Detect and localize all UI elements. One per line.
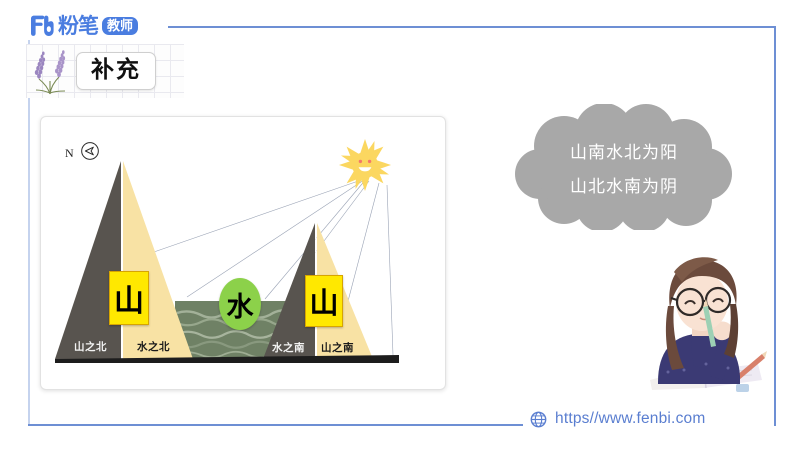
cloud-line-1: 山南水北为阳: [570, 138, 678, 163]
brand-logo: 粉笔 教师: [28, 14, 144, 38]
compass-arrow-icon: [80, 141, 100, 166]
label-shan-zhi-bei: 山之北: [74, 339, 107, 354]
eraser: [736, 384, 749, 392]
thought-cloud: 山南水北为阳 山北水南为阴: [508, 104, 740, 230]
globe-icon: [530, 411, 547, 428]
label-shui-zhi-bei: 水之北: [137, 339, 170, 354]
badge-shan-right: 山: [305, 275, 343, 327]
compass: N: [65, 141, 100, 166]
sun-smiling-icon: [339, 139, 391, 191]
frame-line-top: [168, 26, 776, 28]
badge-shui-label: 水: [227, 285, 254, 324]
brand-name: 粉笔: [58, 16, 98, 37]
section-title-block: 补充: [26, 44, 184, 98]
fb-logo-icon: [28, 14, 54, 38]
thinking-girl-illustration: [640, 248, 772, 396]
brand-badge: 教师: [102, 17, 138, 35]
page-title: 补充: [91, 57, 141, 82]
diagram-inner: N 山 水 山 山之北 水之北 水之南 山: [47, 123, 439, 383]
label-shui-zhi-nan: 水之南: [272, 340, 305, 355]
badge-shan-left: 山: [109, 271, 149, 325]
badge-shui: 水: [219, 278, 261, 330]
frame-line-right: [774, 26, 776, 426]
lavender-icon: [28, 46, 72, 96]
badge-shan-right-label: 山: [309, 280, 338, 322]
cloud-line-2: 山北水南为阴: [570, 172, 678, 197]
slide-root: 粉笔 教师: [0, 0, 800, 450]
compass-north-label: N: [65, 146, 74, 161]
badge-shan-left-label: 山: [114, 276, 144, 320]
label-shan-zhi-nan: 山之南: [321, 340, 354, 355]
frame-line-bottom: [28, 424, 523, 426]
footer: https//www.fenbi.com: [530, 410, 705, 428]
title-box: 补充: [76, 52, 156, 89]
cloud-text: 山南水北为阳 山北水南为阴: [508, 104, 740, 230]
footer-url[interactable]: https//www.fenbi.com: [555, 410, 705, 428]
diagram-card: N 山 水 山 山之北 水之北 水之南 山: [40, 116, 446, 390]
left-mountain-shaded-face: [55, 161, 121, 359]
